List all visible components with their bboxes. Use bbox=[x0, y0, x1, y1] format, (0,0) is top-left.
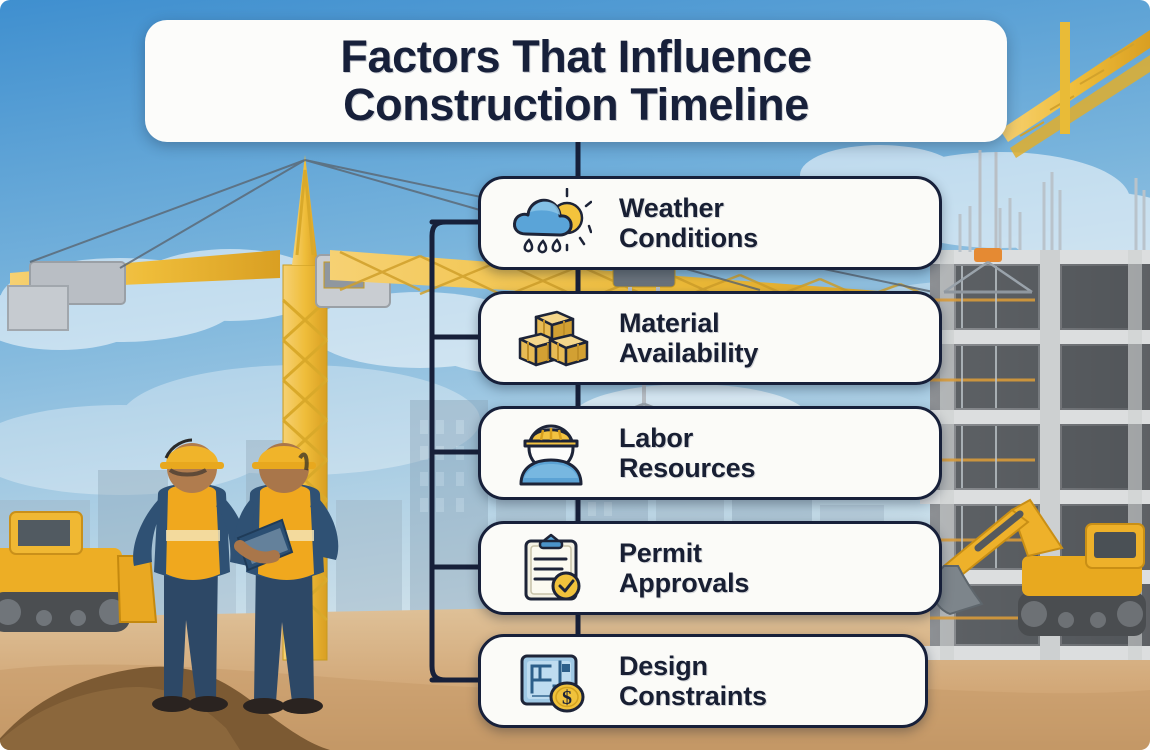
factor-card-weather-conditions[interactable]: Weather Conditions bbox=[478, 176, 942, 270]
factor-card-permit-approvals[interactable]: Permit Approvals bbox=[478, 521, 942, 615]
page-title-line2: Construction Timeline bbox=[340, 81, 811, 129]
factor-label-weather-conditions: Weather Conditions bbox=[619, 193, 758, 253]
clipboard-check-icon bbox=[507, 531, 595, 605]
svg-text:$: $ bbox=[562, 687, 572, 709]
title-card: Factors That Influence Construction Time… bbox=[145, 20, 1007, 142]
factor-label-line2: Availability bbox=[619, 338, 758, 368]
factor-label-line1: Design bbox=[619, 651, 767, 681]
factor-card-labor-resources[interactable]: Labor Resources bbox=[478, 406, 942, 500]
factor-label-line2: Approvals bbox=[619, 568, 749, 598]
factor-label-material-availability: Material Availability bbox=[619, 308, 758, 368]
factor-label-line1: Permit bbox=[619, 538, 749, 568]
factor-label-permit-approvals: Permit Approvals bbox=[619, 538, 749, 598]
factor-label-line1: Labor bbox=[619, 423, 755, 453]
factor-label-labor-resources: Labor Resources bbox=[619, 423, 755, 483]
worker-hardhat-avatar-icon bbox=[507, 416, 595, 490]
factor-card-design-constraints[interactable]: $ Design Constraints bbox=[478, 634, 928, 728]
factor-label-line1: Material bbox=[619, 308, 758, 338]
factor-card-material-availability[interactable]: Material Availability bbox=[478, 291, 942, 385]
weather-cloud-rain-sun-icon bbox=[507, 186, 595, 260]
blueprint-dollar-icon: $ bbox=[507, 644, 595, 718]
factor-label-line2: Constraints bbox=[619, 681, 767, 711]
stacked-boxes-icon bbox=[507, 301, 595, 375]
factor-label-design-constraints: Design Constraints bbox=[619, 651, 767, 711]
page-title: Factors That Influence Construction Time… bbox=[340, 33, 811, 129]
factor-label-line2: Conditions bbox=[619, 223, 758, 253]
factor-label-line1: Weather bbox=[619, 193, 758, 223]
infographic-canvas: Weather Conditions bbox=[0, 0, 1150, 750]
factor-label-line2: Resources bbox=[619, 453, 755, 483]
page-title-line1: Factors That Influence bbox=[340, 33, 811, 81]
